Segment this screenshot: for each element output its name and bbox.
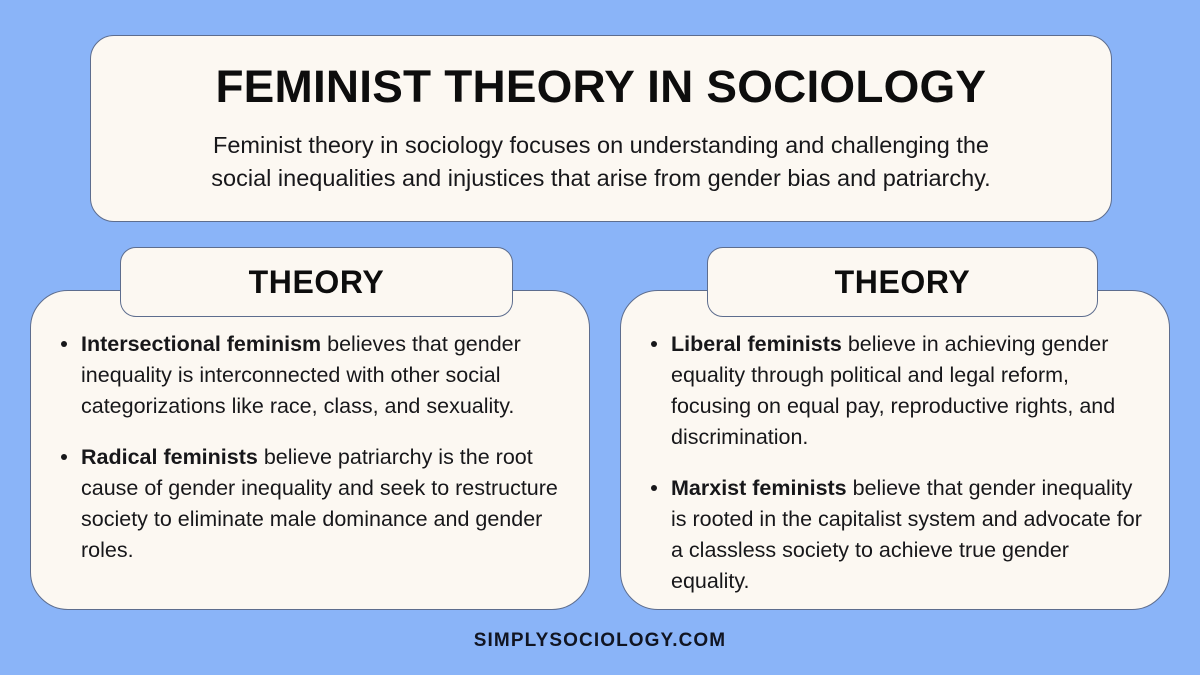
theory-tab-right: THEORY	[707, 247, 1098, 317]
header-card: FEMINIST THEORY IN SOCIOLOGY Feminist th…	[90, 35, 1112, 222]
bullet-dot-icon	[61, 341, 67, 347]
bullet-dot-icon	[651, 341, 657, 347]
list-item: Intersectional feminism believes that ge…	[49, 329, 567, 422]
bullet-dot-icon	[651, 485, 657, 491]
list-item-lead: Intersectional feminism	[81, 332, 321, 356]
page-title: FEMINIST THEORY IN SOCIOLOGY	[216, 60, 987, 113]
theory-tab-label: THEORY	[249, 266, 385, 298]
list-item-lead: Marxist feminists	[671, 476, 847, 500]
page-subtitle-line-1: Feminist theory in sociology focuses on …	[211, 129, 990, 162]
list-item: Radical feminists believe patriarchy is …	[49, 442, 567, 566]
list-item: Liberal feminists believe in achieving g…	[639, 329, 1147, 453]
page-subtitle: Feminist theory in sociology focuses on …	[211, 129, 990, 196]
theory-card-left: Intersectional feminism believes that ge…	[30, 290, 590, 610]
list-item: Marxist feminists believe that gender in…	[639, 473, 1147, 597]
theory-list-right: Liberal feminists believe in achieving g…	[639, 329, 1147, 597]
bullet-dot-icon	[61, 454, 67, 460]
theory-tab-left: THEORY	[120, 247, 513, 317]
theory-tab-label: THEORY	[835, 266, 971, 298]
source-attribution: SIMPLYSOCIOLOGY.COM	[0, 630, 1200, 652]
theory-list-left: Intersectional feminism believes that ge…	[49, 329, 567, 566]
page-subtitle-line-2: social inequalities and injustices that …	[211, 162, 990, 195]
theory-card-right: Liberal feminists believe in achieving g…	[620, 290, 1170, 610]
list-item-lead: Liberal feminists	[671, 332, 842, 356]
list-item-lead: Radical feminists	[81, 445, 258, 469]
infographic-canvas: FEMINIST THEORY IN SOCIOLOGY Feminist th…	[0, 0, 1200, 675]
